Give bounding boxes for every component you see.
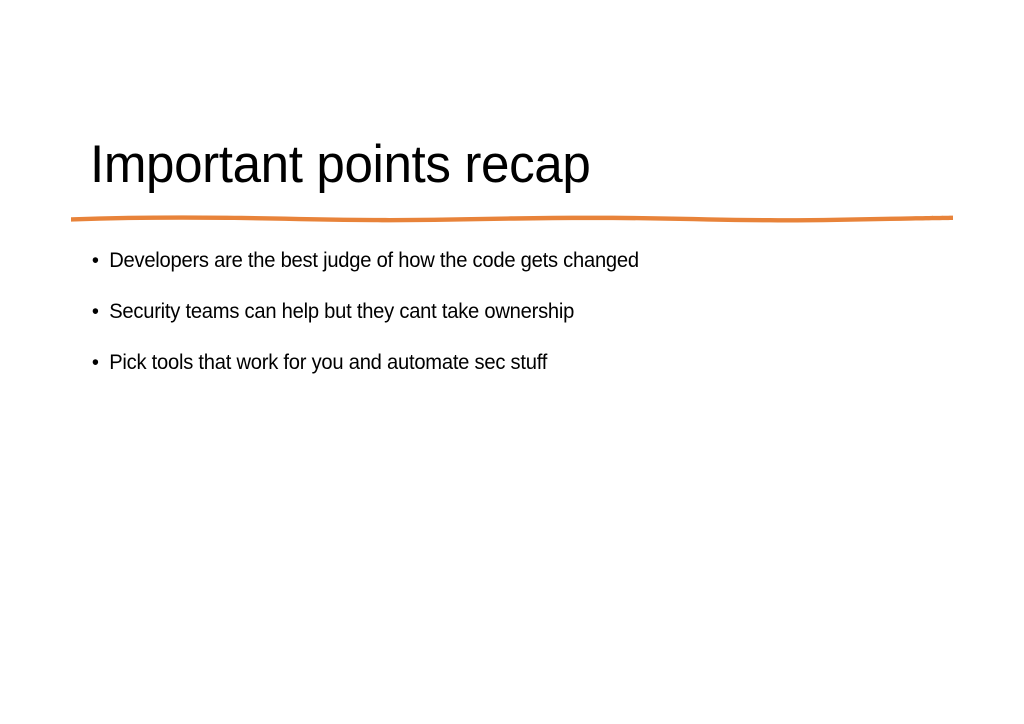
- page-title: Important points recap: [90, 134, 920, 196]
- orange-wavy-rule: [62, 200, 964, 232]
- bullet-list: • Developers are the best judge of how t…: [90, 250, 970, 373]
- list-item: • Pick tools that work for you and autom…: [90, 352, 935, 373]
- bullet-point-icon: •: [92, 301, 105, 322]
- list-item: • Developers are the best judge of how t…: [90, 250, 935, 271]
- list-item: • Security teams can help but they cant …: [90, 301, 935, 322]
- slide: Important points recap • Developers are …: [0, 0, 1024, 724]
- bullet-item-label: Pick tools that work for you and automat…: [109, 351, 547, 374]
- orange-rule-path: [71, 215, 953, 222]
- bullet-point-icon: •: [92, 352, 105, 373]
- bullet-item-label: Developers are the best judge of how the…: [109, 249, 639, 272]
- bullet-point-icon: •: [92, 250, 105, 271]
- bullet-item-label: Security teams can help but they cant ta…: [109, 300, 574, 323]
